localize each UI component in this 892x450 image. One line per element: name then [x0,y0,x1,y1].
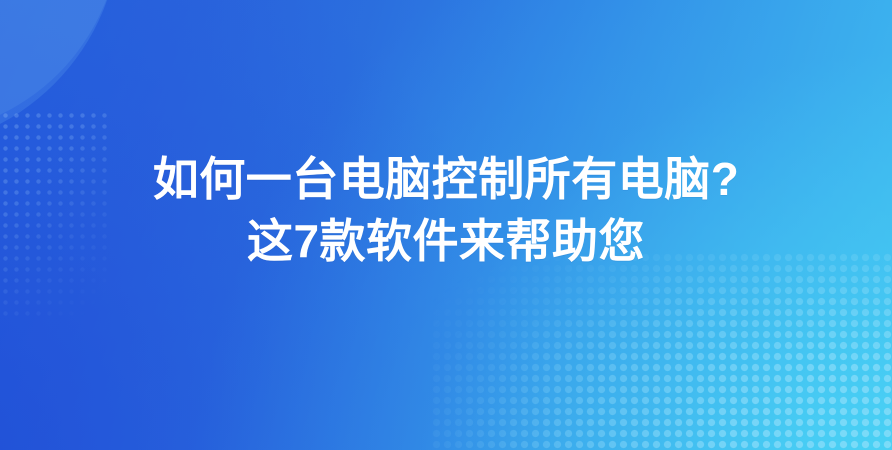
top-left-arc-icon [0,0,120,150]
left-dot-matrix-icon [0,110,110,320]
banner-headline: 如何一台电脑控制所有电脑? 这7款软件来帮助您 [0,148,892,272]
promo-banner: 如何一台电脑控制所有电脑? 这7款软件来帮助您 [0,0,892,450]
headline-line-2: 这7款软件来帮助您 [0,210,892,272]
bottom-right-wash [0,0,892,450]
top-left-arc-inner-icon [0,0,120,135]
top-left-wash [0,0,892,450]
bottom-right-dot-matrix-icon [430,250,892,450]
headline-line-1: 如何一台电脑控制所有电脑? [0,148,892,210]
bottom-left-wash [0,0,892,450]
